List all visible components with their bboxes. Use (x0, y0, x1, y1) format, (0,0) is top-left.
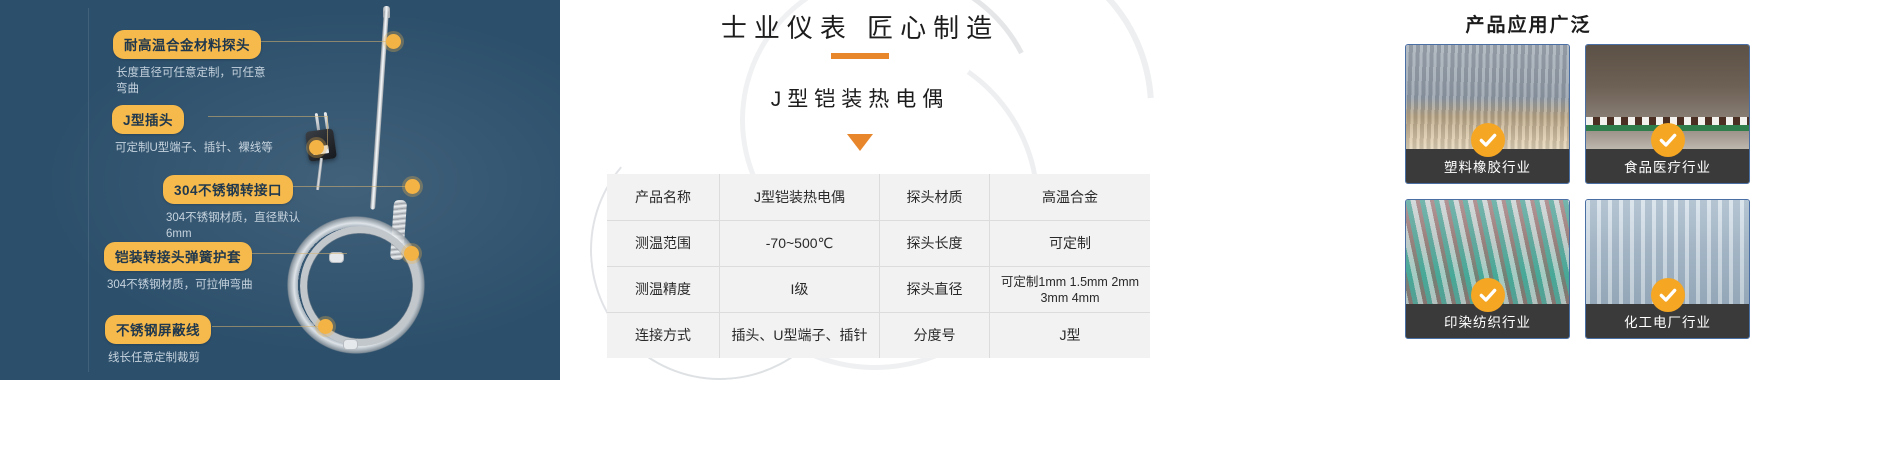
spec-key: 探头直径 (879, 266, 989, 312)
callout-304-adapter[interactable]: 304不锈钢转接口 304不锈钢材质，直径默认6mm (163, 175, 324, 242)
spec-key: 探头材质 (879, 174, 989, 220)
callout-probe-material[interactable]: 耐高温合金材料探头 长度直径可任意定制，可任意弯曲 (113, 30, 274, 97)
spec-panel-subtitle: J型铠装热电偶 (560, 83, 1160, 113)
callout-label: 铠装转接头弹簧护套 (104, 242, 252, 271)
title-underline-bar (831, 53, 889, 59)
spec-panel-title: 士业仪表 匠心制造 (560, 8, 1160, 45)
spec-key: 连接方式 (607, 312, 719, 358)
leader-line (258, 41, 388, 42)
callout-shielded-wire[interactable]: 不锈钢屏蔽线 线长任意定制裁剪 (105, 315, 211, 366)
check-badge-icon (1471, 278, 1505, 312)
callout-label: 不锈钢屏蔽线 (105, 315, 211, 344)
leader-line (212, 326, 322, 327)
down-triangle-icon (847, 134, 873, 151)
application-card-chemical-power[interactable]: 化工电厂行业 (1585, 199, 1750, 339)
hotspot-dot (404, 246, 419, 261)
spec-key: 产品名称 (607, 174, 719, 220)
application-card-dyeing-textile[interactable]: 印染纺织行业 (1405, 199, 1570, 339)
callout-description: 长度直径可任意定制，可任意弯曲 (116, 65, 274, 97)
callout-label: 耐高温合金材料探头 (113, 30, 261, 59)
spec-key: 探头长度 (879, 220, 989, 266)
hotspot-dot (318, 319, 333, 334)
features-panel: 耐高温合金材料探头 长度直径可任意定制，可任意弯曲 J型插头 可定制U型端子、插… (0, 0, 560, 380)
callout-spring-sheath[interactable]: 铠装转接头弹簧护套 304不锈钢材质，可拉伸弯曲 (104, 242, 253, 293)
callout-label: J型插头 (112, 105, 184, 134)
table-row: 产品名称 J型铠装热电偶 探头材质 高温合金 (607, 174, 1150, 220)
check-badge-icon (1651, 278, 1685, 312)
spec-key: 测温范围 (607, 220, 719, 266)
leader-line (327, 116, 328, 149)
table-row: 测温范围 -70~500℃ 探头长度 可定制 (607, 220, 1150, 266)
check-badge-icon (1651, 123, 1685, 157)
callout-j-type-plug[interactable]: J型插头 可定制U型端子、插针、裸线等 (112, 105, 273, 156)
spec-value: -70~500℃ (719, 220, 879, 266)
callout-description: 可定制U型端子、插针、裸线等 (115, 140, 273, 156)
application-card-plastic-rubber[interactable]: 塑料橡胶行业 (1405, 44, 1570, 184)
spec-value: 可定制1mm 1.5mm 2mm 3mm 4mm (994, 274, 1146, 306)
hotspot-dot (309, 140, 324, 155)
spec-value: 高温合金 (989, 174, 1150, 220)
product-detail-page: 耐高温合金材料探头 长度直径可任意定制，可任意弯曲 J型插头 可定制U型端子、插… (0, 0, 1897, 452)
applications-panel: 产品应用广泛 塑料橡胶行业 食品医疗行业 (1160, 0, 1897, 380)
applications-panel-title: 产品应用广泛 (1160, 10, 1897, 37)
check-badge-icon (1471, 123, 1505, 157)
spec-value: J型 (989, 312, 1150, 358)
application-card-grid: 塑料橡胶行业 食品医疗行业 印染纺织行业 (1405, 44, 1750, 339)
callout-description: 304不锈钢材质，可拉伸弯曲 (107, 277, 253, 293)
table-row: 测温精度 I级 探头直径 可定制1mm 1.5mm 2mm 3mm 4mm (607, 266, 1150, 312)
cable-clip-shape (344, 340, 357, 349)
application-card-food-medical[interactable]: 食品医疗行业 (1585, 44, 1750, 184)
spec-value: 可定制 (989, 220, 1150, 266)
callout-description: 线长任意定制裁剪 (108, 350, 211, 366)
leader-line (241, 253, 347, 254)
cable-clip-shape (330, 253, 343, 262)
hotspot-dot (386, 34, 401, 49)
spec-key: 分度号 (879, 312, 989, 358)
spec-value: J型铠装热电偶 (719, 174, 879, 220)
spec-value: I级 (719, 266, 879, 312)
spec-panel: 士业仪表 匠心制造 J型铠装热电偶 产品名称 J型铠装热电偶 探头材质 高温合金… (560, 0, 1160, 380)
hotspot-dot (405, 179, 420, 194)
spec-key: 测温精度 (607, 266, 719, 312)
spec-value: 插头、U型端子、插针 (719, 312, 879, 358)
specification-table: 产品名称 J型铠装热电偶 探头材质 高温合金 测温范围 -70~500℃ 探头长… (607, 174, 1150, 358)
callout-label: 304不锈钢转接口 (163, 175, 293, 204)
callout-description: 304不锈钢材质，直径默认6mm (166, 210, 324, 242)
table-row: 连接方式 插头、U型端子、插针 分度号 J型 (607, 312, 1150, 358)
